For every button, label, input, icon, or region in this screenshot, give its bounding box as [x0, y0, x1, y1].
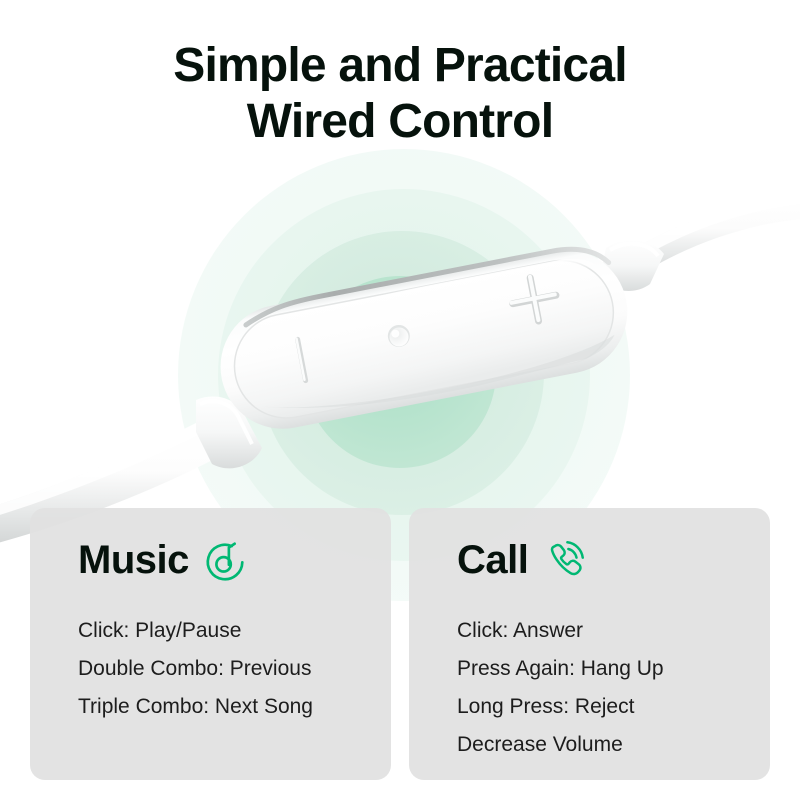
feature-cards: Music Click: Play/Pause Double Combo: Pr… — [30, 508, 770, 780]
card-music-header: Music — [78, 534, 391, 586]
phone-ringing-icon — [542, 537, 588, 583]
card-music-title: Music — [78, 538, 189, 582]
card-call-header: Call — [457, 534, 770, 586]
card-call-line-3: Long Press: Reject — [457, 688, 770, 726]
card-music: Music Click: Play/Pause Double Combo: Pr… — [30, 508, 391, 780]
music-note-icon — [203, 537, 249, 583]
card-music-line-3: Triple Combo: Next Song — [78, 688, 391, 726]
card-call: Call Click: Answer Press Again: Hang Up … — [409, 508, 770, 780]
card-call-line-1: Click: Answer — [457, 612, 770, 650]
card-music-line-1: Click: Play/Pause — [78, 612, 391, 650]
card-music-lines: Click: Play/Pause Double Combo: Previous… — [78, 612, 391, 726]
remote-control-body — [210, 239, 638, 439]
card-call-line-4: Decrease Volume — [457, 726, 770, 764]
infographic-root: Simple and Practical Wired Control — [0, 0, 800, 800]
card-call-title: Call — [457, 538, 528, 582]
card-call-lines: Click: Answer Press Again: Hang Up Long … — [457, 612, 770, 764]
card-music-line-2: Double Combo: Previous — [78, 650, 391, 688]
card-call-line-2: Press Again: Hang Up — [457, 650, 770, 688]
